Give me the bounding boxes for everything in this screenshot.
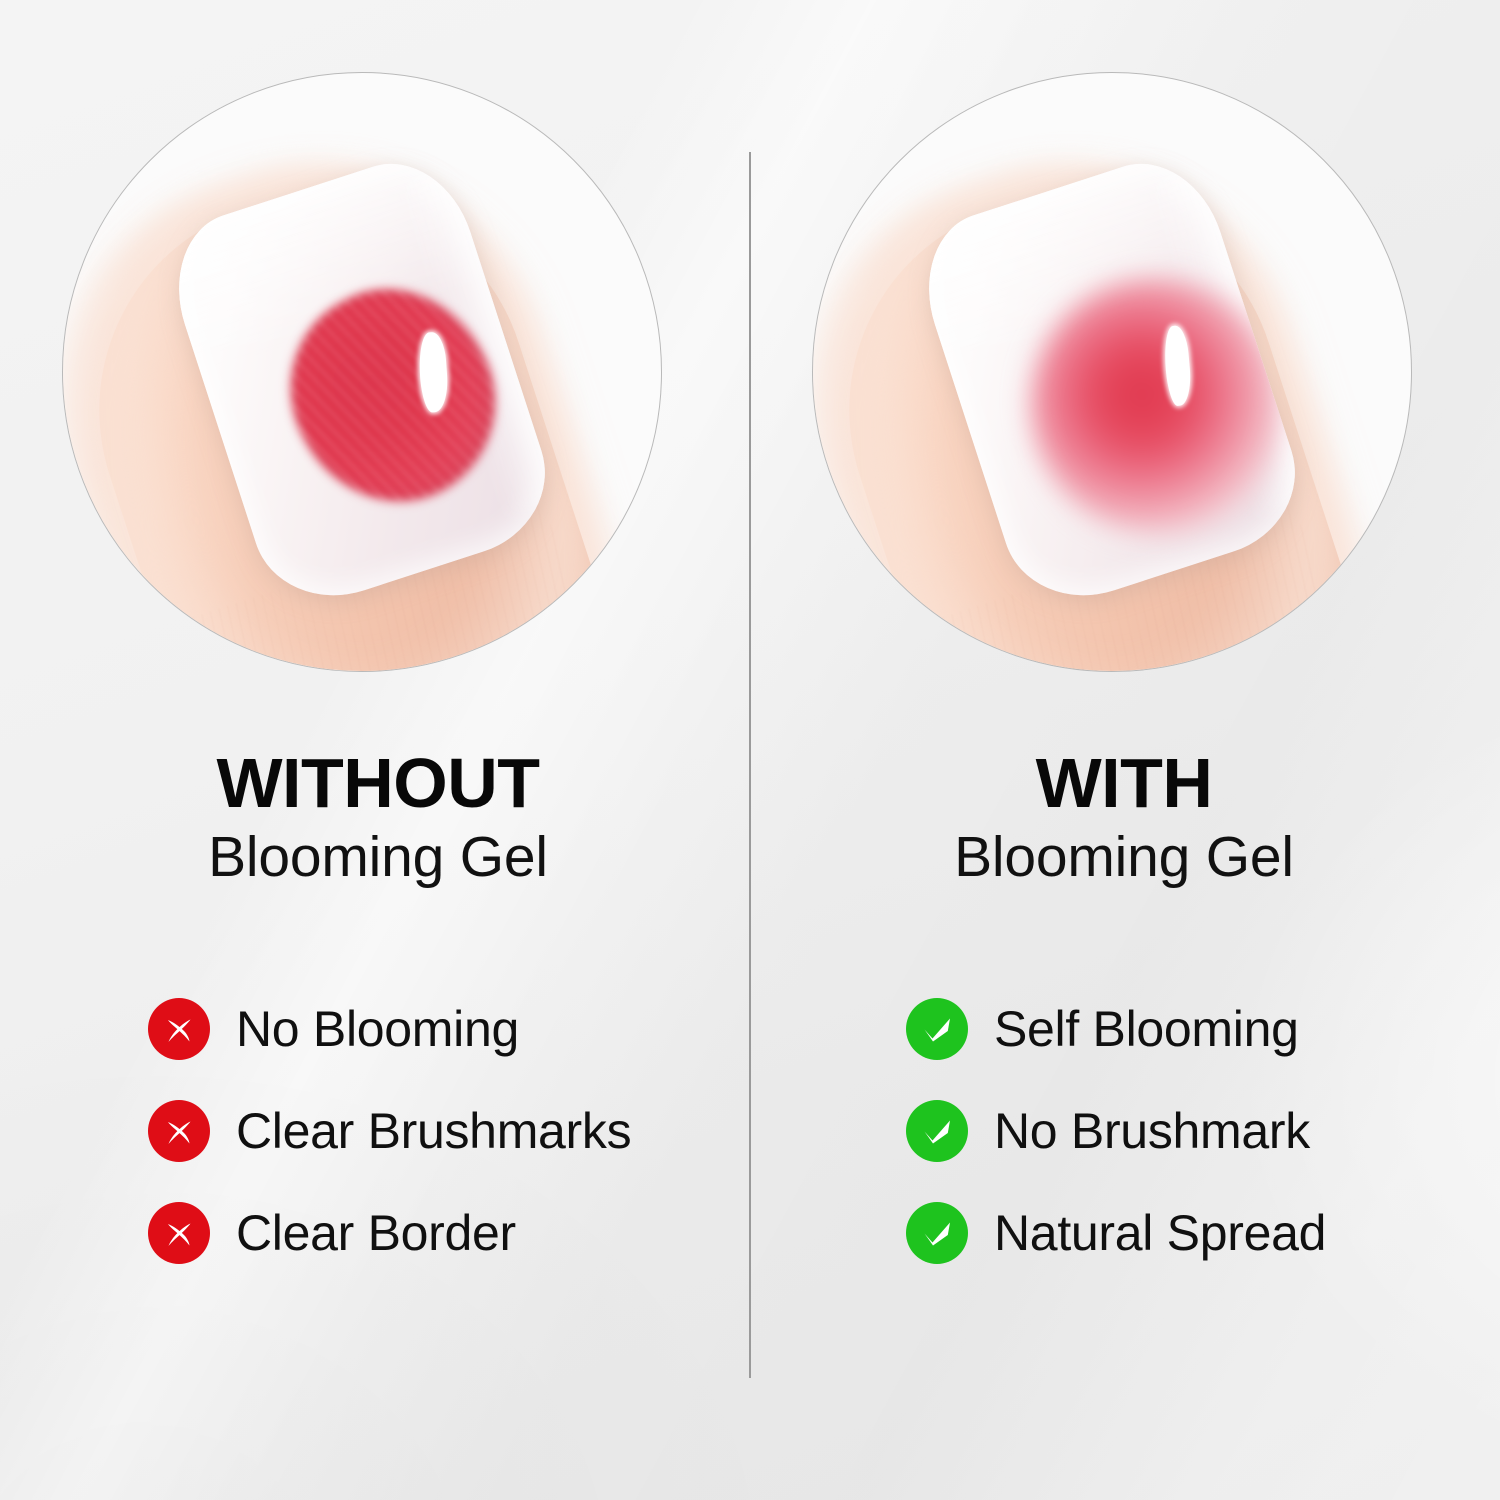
- check-icon: [906, 1100, 968, 1162]
- list-item: Self Blooming: [906, 978, 1326, 1080]
- check-icon: [906, 1202, 968, 1264]
- check-icon: [906, 998, 968, 1060]
- heading-secondary: Blooming Gel: [754, 825, 1494, 890]
- photo-scene-left: [63, 73, 661, 671]
- feature-list-with: Self Blooming No Brushmark Natural Sprea…: [906, 978, 1326, 1284]
- column-divider: [749, 152, 751, 1378]
- column-heading-without: WITHOUT Blooming Gel: [8, 748, 748, 890]
- list-item-label: Natural Spread: [994, 1204, 1326, 1262]
- list-item: Clear Border: [148, 1182, 631, 1284]
- cross-icon: [148, 998, 210, 1060]
- cross-icon: [148, 1202, 210, 1264]
- list-item: Natural Spread: [906, 1182, 1326, 1284]
- nail-photo-without-blooming: [62, 72, 662, 672]
- list-item: No Brushmark: [906, 1080, 1326, 1182]
- list-item: No Blooming: [148, 978, 631, 1080]
- list-item-label: No Brushmark: [994, 1102, 1310, 1160]
- list-item: Clear Brushmarks: [148, 1080, 631, 1182]
- heading-primary: WITH: [754, 748, 1494, 819]
- nail-photo-with-blooming: [812, 72, 1412, 672]
- list-item-label: Clear Border: [236, 1204, 516, 1262]
- heading-primary: WITHOUT: [8, 748, 748, 819]
- list-item-label: No Blooming: [236, 1000, 519, 1058]
- comparison-infographic: WITHOUT Blooming Gel WITH Blooming Gel N…: [0, 0, 1500, 1500]
- list-item-label: Self Blooming: [994, 1000, 1299, 1058]
- heading-secondary: Blooming Gel: [8, 825, 748, 890]
- feature-list-without: No Blooming Clear Brushmarks Clear Borde…: [148, 978, 631, 1284]
- column-heading-with: WITH Blooming Gel: [754, 748, 1494, 890]
- photo-scene-right: [813, 73, 1411, 671]
- cross-icon: [148, 1100, 210, 1162]
- list-item-label: Clear Brushmarks: [236, 1102, 631, 1160]
